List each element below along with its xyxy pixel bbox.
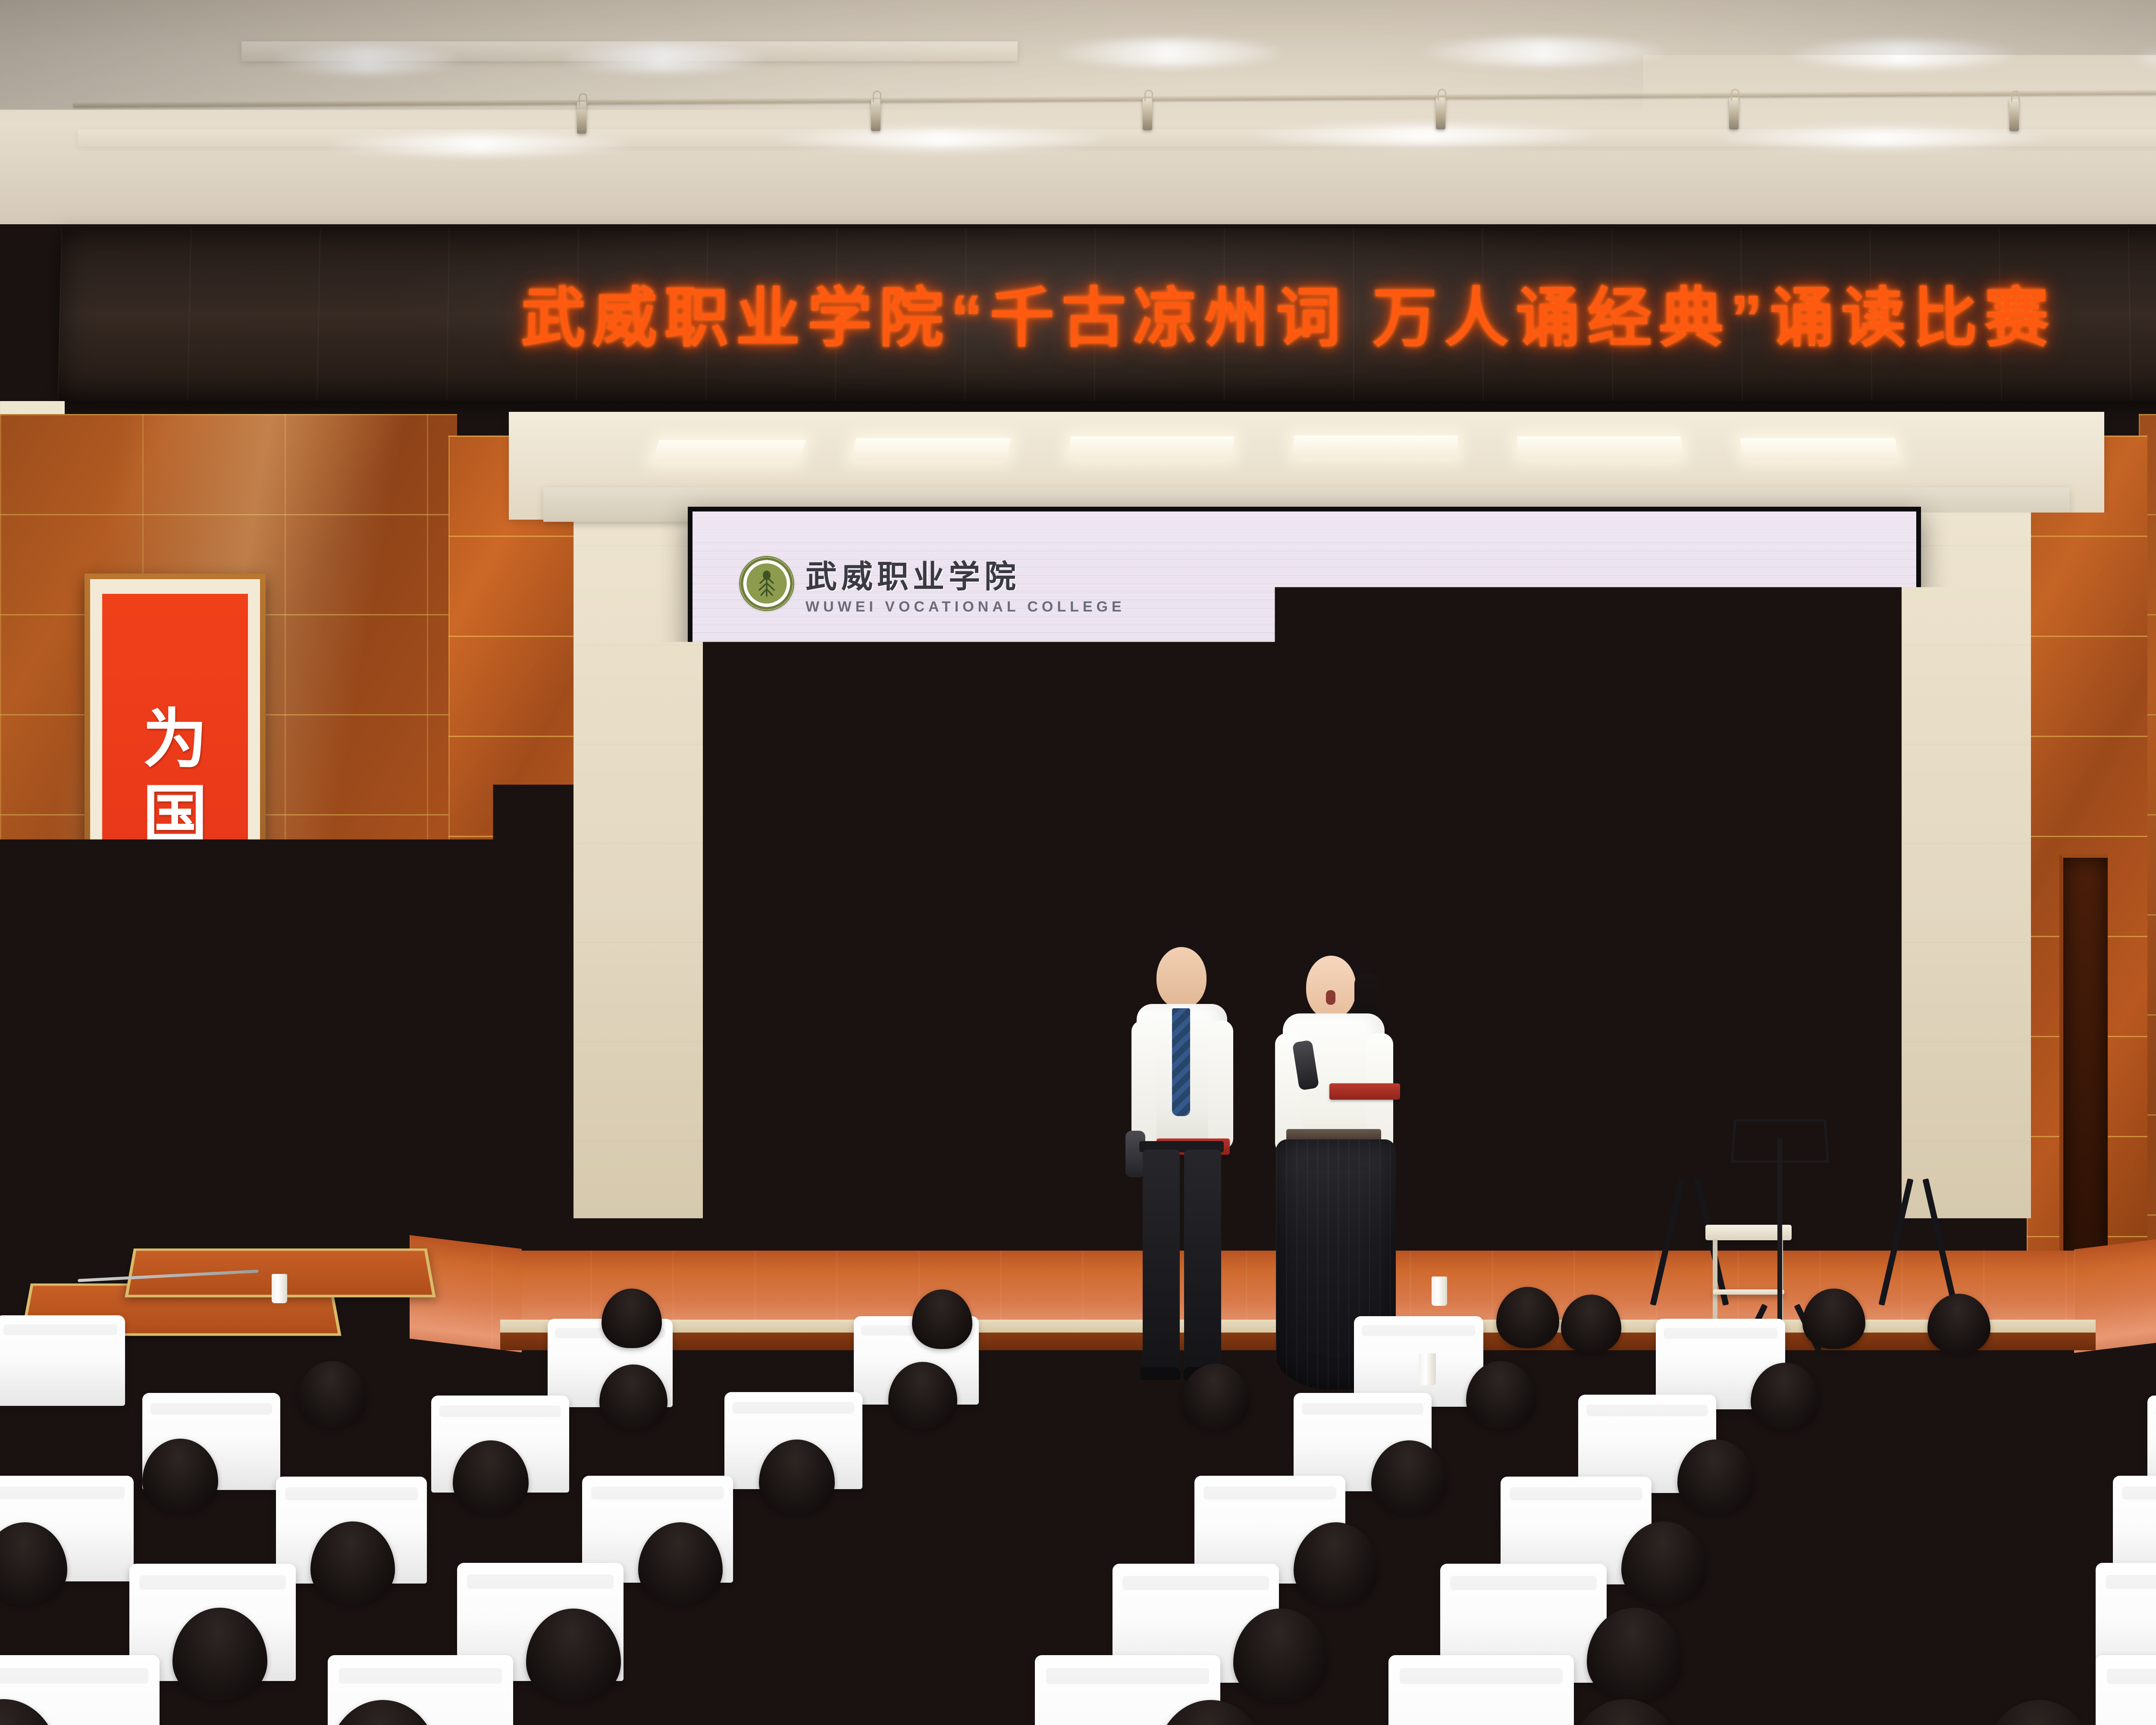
ceiling-cove-light-9 [1250,126,1595,145]
male-host-head [1156,947,1206,1008]
left-scroll-mat: 为 国 育 才 [90,579,260,1129]
wall-accent-block-2 [1056,1126,1068,1157]
ceiling-cove-light-2 [561,45,763,72]
audience-head [2035,1364,2104,1431]
left-calligraphy-scroll: 为 国 育 才 [85,574,266,1134]
stool-leg-left [1713,1239,1717,1326]
soffit-light-4 [1294,436,1457,458]
male-host [1130,936,1233,1307]
ceiling-cove-light-7 [328,135,630,154]
music-stand-pole [1777,1138,1782,1320]
slide-logo-english-name: WUWEI VOCATIONAL COLLEGE [805,599,1125,615]
left-scroll-char-4: 才 [143,935,207,1000]
led-banner: 武威职业学院“千古凉州词 万人诵经典”诵读比赛 [57,229,2156,401]
ceiling-cove-light-3 [1056,40,1281,66]
audience-head [1984,1700,2095,1725]
left-stage-doorway[interactable] [482,856,533,1309]
male-host-left-arm [1131,1020,1156,1150]
male-host-left-shoe [1140,1367,1181,1380]
soffit-light-6 [1739,438,1899,461]
left-scroll-char-2: 国 [143,784,207,848]
stage-spotlight-3[interactable] [1143,98,1152,130]
auditorium-scene: 武威职业学院“千古凉州词 万人诵经典”诵读比赛 [0,0,2156,1725]
audience-head [1570,1699,1681,1725]
stage-spotlight-6[interactable] [2009,99,2019,131]
soffit-light-5 [1517,436,1683,459]
ceiling-cove-light-5 [1789,41,2014,67]
audience-head [1949,1522,2034,1607]
soffit-light-3 [1069,436,1235,459]
audience-head [1940,1609,2036,1703]
paper-cup[interactable] [272,1274,287,1303]
college-seal-icon [739,556,794,611]
slide-main-title: 千古凉州词 万人诵经典 [693,693,1916,785]
male-host-left-leg [1143,1150,1180,1374]
male-host-necktie [1172,1008,1190,1116]
stool-crossbar [1713,1289,1784,1295]
stage-spotlight-1[interactable] [577,102,586,134]
left-scroll-panel: 为 国 育 才 [102,594,248,1114]
male-host-right-leg [1184,1150,1221,1374]
soffit-light-1 [652,440,806,462]
right-stage-doorway[interactable] [2059,854,2108,1302]
slide-subtitle: 诵 读 比 赛 [693,796,1916,870]
paper-cup[interactable] [1432,1276,1447,1306]
chair[interactable] [1742,1654,1927,1725]
left-scroll-char-1: 为 [143,708,207,772]
ceiling [0,0,2156,224]
led-banner-text: 武威职业学院“千古凉州词 万人诵经典”诵读比赛 [520,266,2057,359]
left-scroll-char-3: 育 [143,859,207,924]
slide-logo-chinese-name: 武威职业学院 [805,551,1125,597]
male-host-right-arm [1208,1020,1233,1150]
stage-spotlight-4[interactable] [1436,97,1445,129]
paper-cup[interactable] [1419,1353,1436,1385]
chair[interactable] [2096,1655,2156,1725]
ceiling-cove-light-8 [776,129,1104,149]
female-host-head [1306,956,1356,1019]
female-host [1274,944,1399,1324]
chair[interactable] [0,1315,125,1406]
chair[interactable] [1388,1655,1574,1725]
ceiling-cove-light-10 [1716,129,2044,147]
female-host-cue-card[interactable] [1329,1083,1400,1100]
ceiling-cove-light-1 [276,47,457,73]
slide-college-logo: 武威职业学院 WUWEI VOCATIONAL COLLEGE [739,551,1125,615]
stage-spotlight-2[interactable] [871,99,881,131]
female-host-open-mouth [1326,990,1335,1005]
ceiling-cove-light-4 [1423,39,1664,65]
stage-spotlight-5[interactable] [1729,97,1739,129]
soffit-light-2 [851,438,1011,461]
tree-emblem-icon [754,570,779,599]
audience-head [298,1361,367,1428]
wall-accent-block-1 [793,1126,805,1157]
